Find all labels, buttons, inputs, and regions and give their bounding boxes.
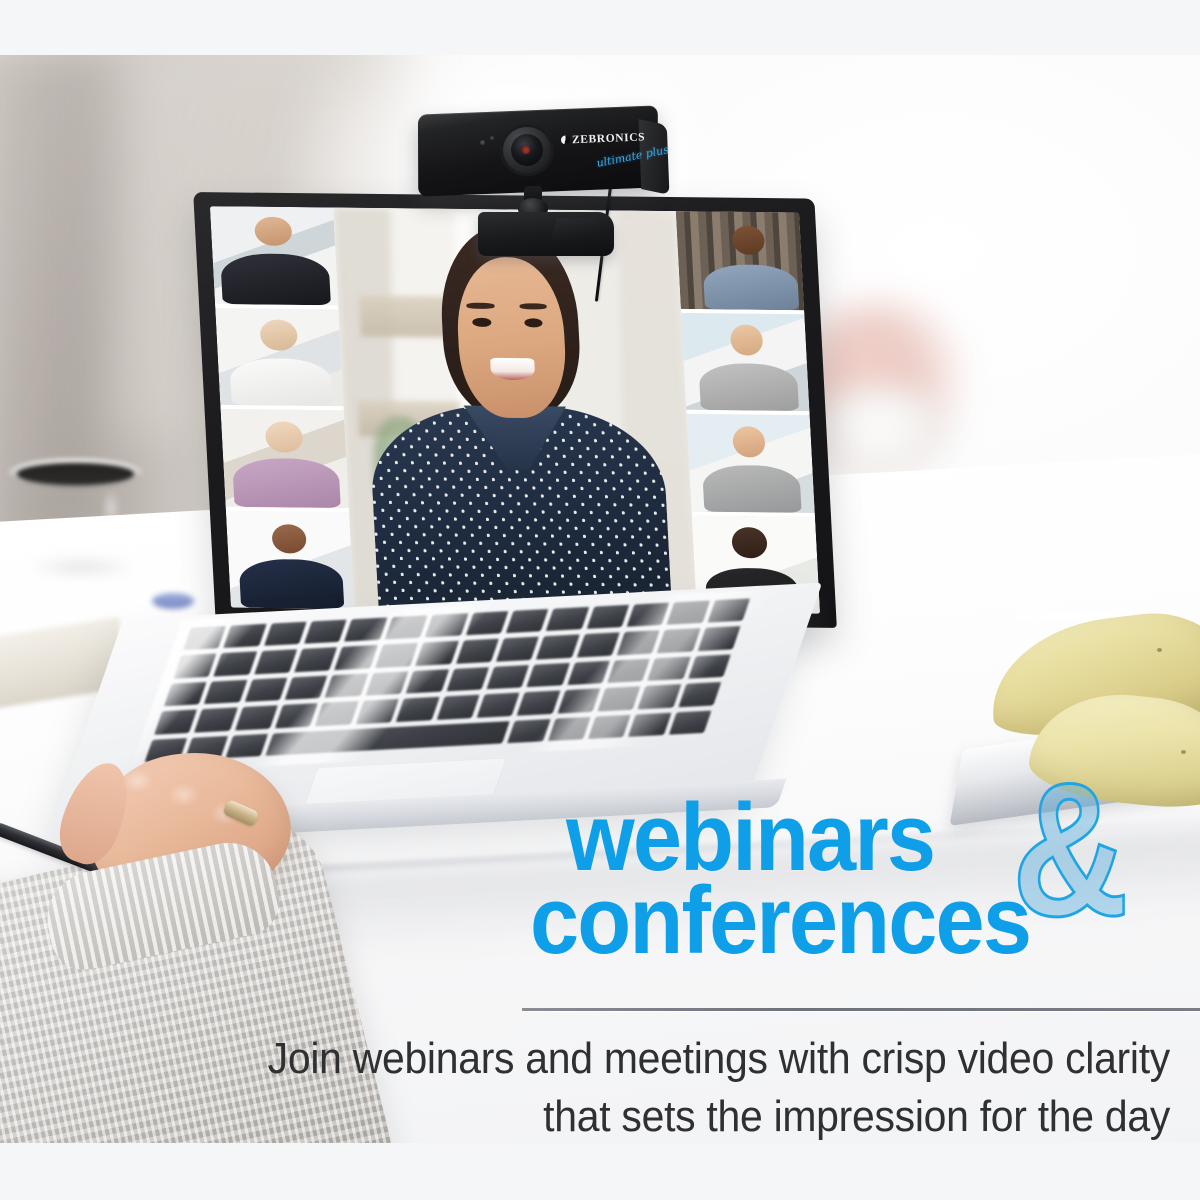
video-tile[interactable] [221,409,350,508]
tile-person-torso [238,559,344,609]
key[interactable] [275,703,318,728]
tile-person-torso [703,264,799,310]
hero-shelf [359,296,450,337]
key[interactable] [557,689,600,714]
video-tile[interactable] [210,206,339,305]
scene-photo: ZEBRONICS ultimate plus [0,55,1200,1143]
subtitle-line-2: that sets the impression for the day [166,1088,1170,1143]
key[interactable] [465,611,508,636]
key[interactable] [536,635,579,660]
key[interactable] [688,654,731,679]
key[interactable] [214,652,257,677]
video-tile[interactable] [681,312,810,411]
camera-lens-ring [500,124,554,176]
divider-rule [522,1008,1200,1011]
banana-spot [1181,750,1186,754]
key[interactable] [154,710,197,735]
video-tile[interactable] [686,414,815,513]
hero-eyebrow [467,303,495,309]
key[interactable] [496,637,539,662]
key[interactable] [668,710,711,735]
key[interactable] [657,628,700,653]
key[interactable] [697,626,740,651]
hero-eye [473,317,492,327]
key[interactable] [647,656,690,681]
key[interactable] [567,661,610,686]
key[interactable] [505,609,548,634]
tile-person-torso [232,458,341,508]
key[interactable] [235,705,278,730]
key[interactable] [285,675,328,700]
key[interactable] [294,647,337,672]
tile-person-torso [229,358,333,406]
key[interactable] [667,600,710,625]
key[interactable] [425,613,468,638]
key[interactable] [304,619,347,644]
right-participant-column [675,211,820,614]
key[interactable] [335,645,378,670]
key[interactable] [385,615,428,640]
key[interactable] [344,617,387,642]
video-tile[interactable] [215,308,344,407]
microphone-icon [480,140,485,145]
video-tile[interactable] [226,510,355,609]
key[interactable] [678,682,721,707]
key[interactable] [406,669,449,694]
key[interactable] [415,641,458,666]
key[interactable] [617,631,660,656]
top-margin-plate [0,0,1200,55]
key[interactable] [517,691,560,716]
key[interactable] [626,603,669,628]
key[interactable] [315,701,358,726]
headline: webinars conferences [520,800,1180,1000]
key[interactable] [194,708,237,733]
key[interactable] [586,605,629,630]
zebronics-webcam[interactable]: ZEBRONICS ultimate plus [418,100,670,280]
key[interactable] [638,684,681,709]
tile-person-torso [220,253,332,305]
key[interactable] [507,719,550,744]
key[interactable] [446,667,489,692]
camera-lens-icon [511,134,543,166]
key[interactable] [546,607,589,632]
headline-line-1: webinars [566,800,1131,877]
key[interactable] [365,671,408,696]
subtitle-line-1: Join webinars and meetings with crisp vi… [166,1030,1170,1088]
key[interactable] [456,639,499,664]
tile-person-torso [702,465,801,513]
key[interactable] [264,622,307,647]
key[interactable] [254,650,297,675]
microphone-icon [490,136,494,140]
key[interactable] [598,686,641,711]
headline-line-2: conferences [530,883,1128,960]
key[interactable] [588,714,631,739]
key[interactable] [548,716,591,741]
key[interactable] [707,598,750,623]
tile-person-torso [698,363,799,411]
key[interactable] [527,663,570,688]
key[interactable] [204,680,247,705]
key[interactable] [244,677,287,702]
key[interactable] [486,665,529,690]
key[interactable] [183,626,226,651]
hero-eyebrow [520,304,548,310]
knuckle-highlight [166,783,210,817]
key[interactable] [607,658,650,683]
key[interactable] [396,697,439,722]
key[interactable] [375,643,418,668]
banana-spot [1157,648,1162,652]
zebronics-mark-icon [561,135,570,144]
key[interactable] [576,633,619,658]
key[interactable] [436,695,479,720]
key[interactable] [325,673,368,698]
key[interactable] [628,712,671,737]
key[interactable] [173,654,216,679]
lens-reflection [522,146,530,154]
keyboard[interactable] [145,598,751,762]
bottom-margin-plate [0,1143,1200,1200]
left-participant-column [210,206,355,609]
video-tile[interactable] [675,211,804,310]
banner-stage: ZEBRONICS ultimate plus [0,0,1200,1200]
key[interactable] [223,624,266,649]
key[interactable] [477,693,520,718]
subtitle: Join webinars and meetings with crisp vi… [166,1030,1170,1143]
key[interactable] [164,682,207,707]
key[interactable] [356,699,399,724]
knuckle-highlight [120,769,164,803]
